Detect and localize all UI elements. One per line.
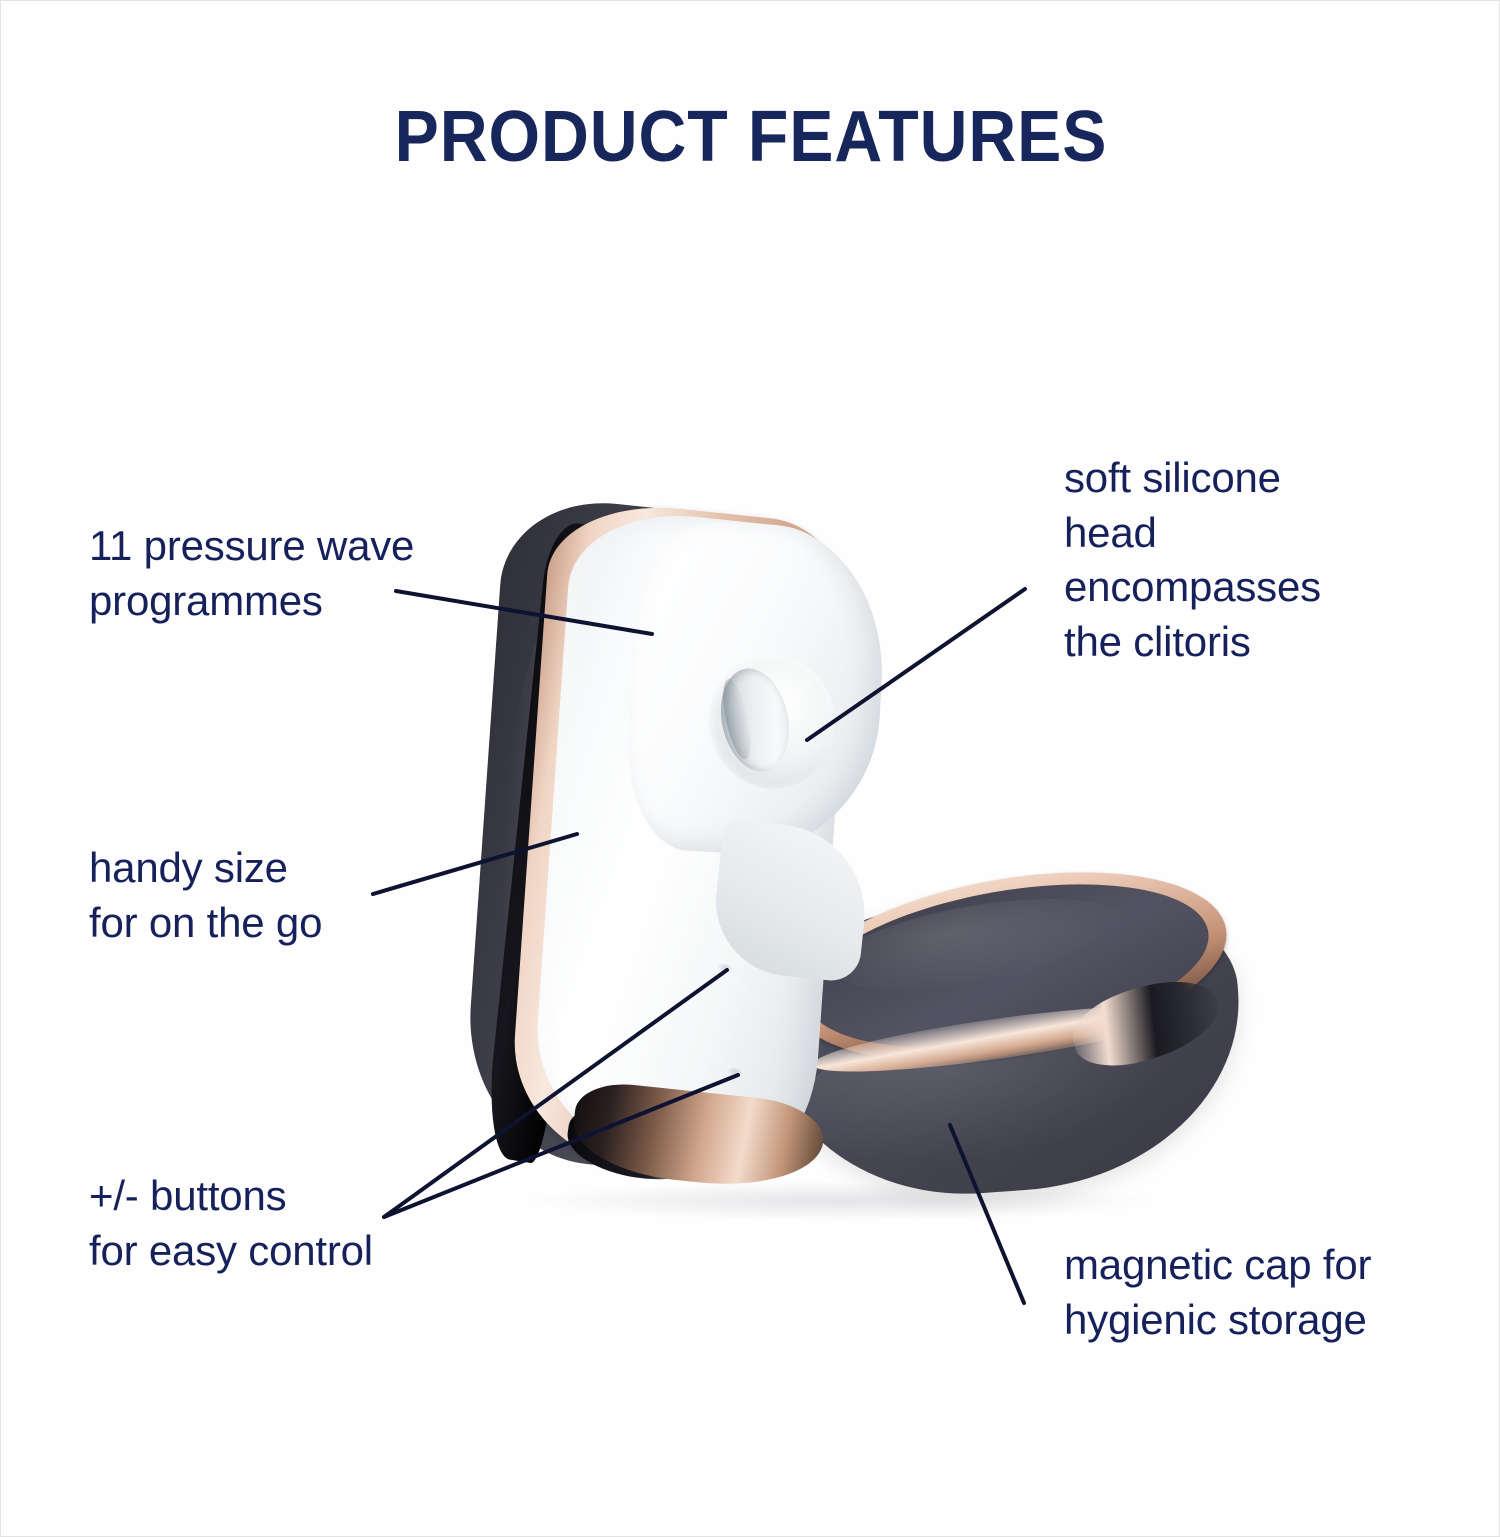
callout-line: head (1064, 506, 1321, 561)
stimulator-device (481, 496, 901, 1196)
callout-line: the clitoris (1064, 615, 1321, 670)
callout-line: magnetic cap for (1064, 1238, 1371, 1293)
callout-line: for easy control (89, 1224, 373, 1279)
callout-magnetic-cap: magnetic cap for hygienic storage (1064, 1238, 1371, 1347)
callout-line: encompasses (1064, 560, 1321, 615)
callout-line: for on the go (89, 896, 322, 951)
callout-line: programmes (89, 574, 414, 629)
product-features-infographic: PRODUCT FEATURES (0, 0, 1500, 1537)
callout-line: hygienic storage (1064, 1293, 1371, 1348)
callout-handy-size: handy size for on the go (89, 841, 322, 950)
callout-line: handy size (89, 841, 322, 896)
callout-line: soft silicone (1064, 451, 1321, 506)
callout-plus-minus-buttons: +/- buttons for easy control (89, 1169, 373, 1278)
callout-soft-silicone-head: soft silicone head encompasses the clito… (1064, 451, 1321, 669)
callout-line: 11 pressure wave (89, 519, 414, 574)
callout-pressure-wave-programmes: 11 pressure wave programmes (89, 519, 414, 628)
callout-line: +/- buttons (89, 1169, 373, 1224)
